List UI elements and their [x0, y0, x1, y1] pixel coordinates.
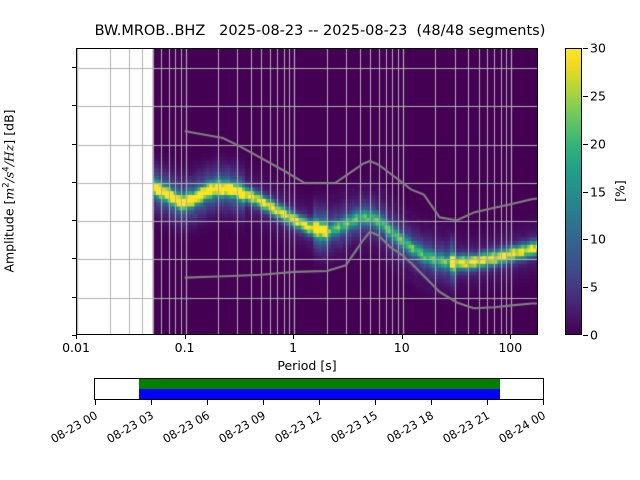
- timeline-tick-label: 08-24 00: [489, 408, 548, 450]
- x-tick-mark: [76, 335, 77, 339]
- y-tick-mark: [72, 144, 76, 145]
- timeline-bar-psd-coverage: [139, 389, 501, 399]
- ppsd-figure: BW.MROB..BHZ 2025-08-23 -- 2025-08-23 (4…: [0, 0, 640, 480]
- timeline-bar-data-coverage: [139, 379, 501, 389]
- colorbar-tick-mark: [583, 96, 588, 97]
- timeline-tick-label: 08-23 09: [209, 408, 268, 450]
- x-tick-mark: [402, 335, 403, 339]
- timeline-tick-label: 08-23 12: [265, 408, 324, 450]
- x-tick-mark: [185, 335, 186, 339]
- ppsd-plot-clip: [77, 49, 537, 334]
- noise-model-curves: [77, 49, 537, 334]
- timeline-tick-mark: [207, 400, 208, 405]
- colorbar-tick-label: 20: [590, 136, 606, 151]
- timeline-tick-mark: [151, 400, 152, 405]
- y-tick-mark: [72, 258, 76, 259]
- colorbar-tick-label: 25: [590, 88, 606, 103]
- x-tick-label: 1: [289, 340, 297, 355]
- colorbar-tick-mark: [583, 144, 588, 145]
- colorbar[interactable]: [565, 48, 582, 335]
- y-tick-mark: [72, 67, 76, 68]
- x-tick-mark: [293, 335, 294, 339]
- x-tick-label: 10: [394, 340, 410, 355]
- timeline-tick-mark: [375, 400, 376, 405]
- colorbar-tick-mark: [583, 287, 588, 288]
- colorbar-tick-mark: [583, 335, 588, 336]
- colorbar-tick-label: 15: [590, 184, 606, 199]
- colorbar-tick-label: 30: [590, 41, 606, 56]
- timeline-tick-mark: [319, 400, 320, 405]
- y-tick-mark: [72, 182, 76, 183]
- x-tick-label: 100: [498, 340, 522, 355]
- colorbar-gradient: [566, 49, 581, 334]
- x-tick-label: 0.1: [175, 340, 195, 355]
- ppsd-plot-area[interactable]: [76, 48, 538, 335]
- colorbar-tick-label: 5: [590, 280, 598, 295]
- y-tick-mark: [72, 105, 76, 106]
- colorbar-tick-mark: [583, 192, 588, 193]
- colorbar-tick-label: 10: [590, 232, 606, 247]
- timeline-tick-mark: [543, 400, 544, 405]
- colorbar-label: [%]: [613, 180, 628, 202]
- timeline-tick-label: 08-23 03: [97, 408, 156, 450]
- timeline-tick-mark: [263, 400, 264, 405]
- timeline-tick-mark: [487, 400, 488, 405]
- timeline-tick-label: 08-23 15: [321, 408, 380, 450]
- timeline-tick-label: 08-23 21: [433, 408, 492, 450]
- x-tick-label: 0.01: [62, 340, 90, 355]
- timeline-axis[interactable]: [94, 378, 544, 400]
- page-title: BW.MROB..BHZ 2025-08-23 -- 2025-08-23 (4…: [95, 23, 546, 39]
- timeline-tick-label: 08-23 18: [377, 408, 436, 450]
- timeline-tick-label: 08-23 06: [153, 408, 212, 450]
- y-tick-mark: [72, 297, 76, 298]
- y-tick-mark: [72, 220, 76, 221]
- timeline-tick-mark: [95, 400, 96, 405]
- colorbar-tick-label: 0: [590, 328, 598, 343]
- x-tick-mark: [510, 335, 511, 339]
- x-axis-label: Period [s]: [277, 358, 336, 373]
- y-axis-label: Amplitude [m2/s4/Hz] [dB]: [1, 109, 16, 272]
- colorbar-tick-mark: [583, 239, 588, 240]
- timeline-tick-label: 08-23 00: [41, 408, 100, 450]
- timeline-tick-mark: [431, 400, 432, 405]
- colorbar-tick-mark: [583, 48, 588, 49]
